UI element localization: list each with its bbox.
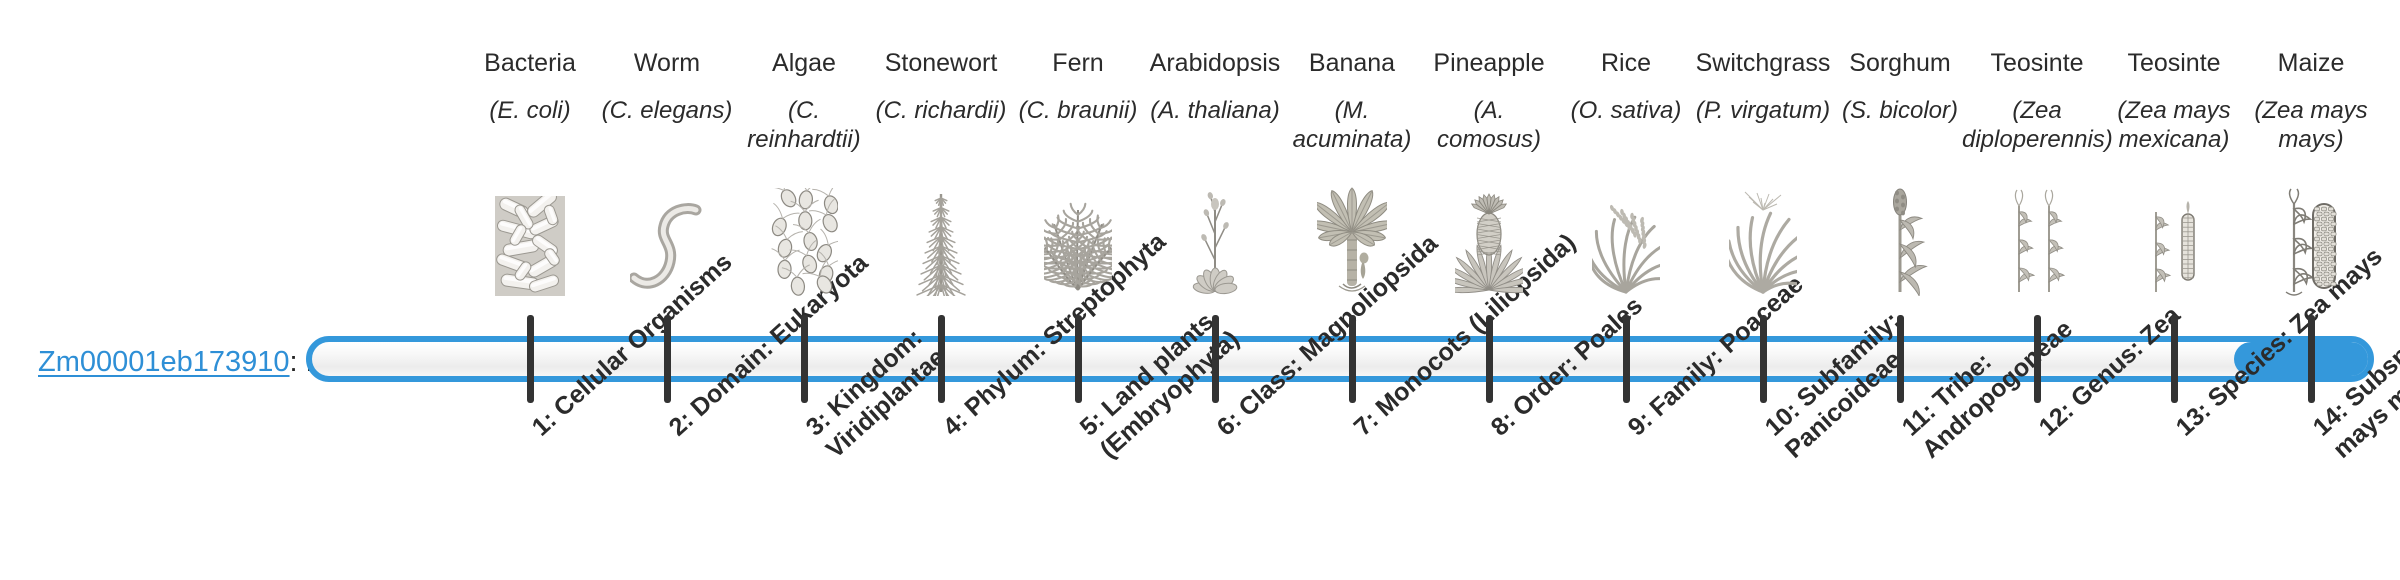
nematode-worm-icon xyxy=(599,168,735,296)
common-name-label: Teosinte xyxy=(1969,48,2105,78)
taxon-column-3: Algae (C. reinhardtii) xyxy=(736,0,872,580)
taxon-column-10: Switchgrass (P. virgatum) xyxy=(1695,0,1831,580)
stonewort-alga-icon xyxy=(873,168,1009,296)
taxon-column-7: Banana (M. acuminata) xyxy=(1284,0,1420,580)
sorghum-plant-icon xyxy=(1832,168,1968,296)
taxon-column-14: Maize (Zea mays mays) xyxy=(2243,0,2379,580)
taxon-column-1: Bacteria (E. coli) xyxy=(462,0,598,580)
scientific-name-label: (C. elegans) xyxy=(599,96,735,125)
phylostratum-tick-8[interactable] xyxy=(1486,315,1493,403)
phylostratum-tick-2[interactable] xyxy=(664,315,671,403)
bacteria-rods-icon xyxy=(462,168,598,296)
scientific-name-label: (E. coli) xyxy=(462,96,598,125)
rice-plant-icon xyxy=(1558,168,1694,296)
teosinte-plant-icon xyxy=(1969,168,2105,296)
phylostratum-tick-7[interactable] xyxy=(1349,315,1356,403)
scientific-name-label: (Zea mays mexicana) xyxy=(2099,96,2249,154)
phylostratum-tick-4[interactable] xyxy=(938,315,945,403)
banana-plant-icon xyxy=(1284,168,1420,296)
scientific-name-label: (C. reinhardtii) xyxy=(736,96,872,154)
taxon-column-6: Arabidopsis (A. thaliana) xyxy=(1147,0,1283,580)
phylostratum-tick-12[interactable] xyxy=(2034,315,2041,403)
scientific-name-label: (A. comosus) xyxy=(1421,96,1557,154)
phylostratum-timeline: Zm00001eb173910: Phylostratum 14 Bacteri… xyxy=(0,0,2400,580)
taxon-column-4: Stonewort (C. richardii) xyxy=(873,0,1009,580)
green-algae-cells-icon xyxy=(736,168,872,296)
common-name-label: Worm xyxy=(599,48,735,78)
gene-label-separator: : xyxy=(290,346,306,378)
common-name-label: Sorghum xyxy=(1832,48,1968,78)
taxon-column-2: Worm (C. elegans) xyxy=(599,0,735,580)
phylostratum-tick-13[interactable] xyxy=(2171,315,2178,403)
taxon-column-13: Teosinte (Zea mays mexicana) xyxy=(2106,0,2242,580)
scientific-name-label: (S. bicolor) xyxy=(1832,96,1968,125)
taxon-column-8: Pineapple (A. comosus) xyxy=(1421,0,1557,580)
pineapple-plant-icon xyxy=(1421,168,1557,296)
common-name-label: Fern xyxy=(1010,48,1146,78)
scientific-name-label: (Zea mays mays) xyxy=(2243,96,2379,154)
scientific-name-label: (C. richardii) xyxy=(873,96,1009,125)
phylostratum-tick-6[interactable] xyxy=(1212,315,1219,403)
scientific-name-label: (A. thaliana) xyxy=(1147,96,1283,125)
taxon-column-5: Fern (C. braunii) xyxy=(1010,0,1146,580)
scientific-name-label: (P. virgatum) xyxy=(1695,96,1831,125)
arabidopsis-plant-icon xyxy=(1147,168,1283,296)
common-name-label: Rice xyxy=(1558,48,1694,78)
common-name-label: Maize xyxy=(2243,48,2379,78)
common-name-label: Pineapple xyxy=(1421,48,1557,78)
fern-frond-icon xyxy=(1010,168,1146,296)
common-name-label: Stonewort xyxy=(873,48,1009,78)
phylostratum-tick-11[interactable] xyxy=(1897,315,1904,403)
scientific-name-label: (C. braunii) xyxy=(1010,96,1146,125)
phylostratum-tick-5[interactable] xyxy=(1075,315,1082,403)
switchgrass-plant-icon xyxy=(1695,168,1831,296)
teosinte-ear-icon xyxy=(2106,168,2242,296)
scientific-name-label: (O. sativa) xyxy=(1558,96,1694,125)
taxon-column-12: Teosinte (Zea diploperennis) xyxy=(1969,0,2105,580)
common-name-label: Switchgrass xyxy=(1695,48,1831,78)
gene-accession-link[interactable]: Zm00001eb173910 xyxy=(38,346,290,378)
phylostratum-tick-1[interactable] xyxy=(527,315,534,403)
scientific-name-label: (Zea diploperennis) xyxy=(1962,96,2112,154)
phylostratum-tick-9[interactable] xyxy=(1623,315,1630,403)
common-name-label: Arabidopsis xyxy=(1147,48,1283,78)
common-name-label: Algae xyxy=(736,48,872,78)
common-name-label: Banana xyxy=(1284,48,1420,78)
common-name-label: Teosinte xyxy=(2106,48,2242,78)
common-name-label: Bacteria xyxy=(462,48,598,78)
phylostratum-tick-14[interactable] xyxy=(2308,315,2315,403)
phylostratum-tick-10[interactable] xyxy=(1760,315,1767,403)
phylostratum-tick-3[interactable] xyxy=(801,315,808,403)
maize-plant-ear-icon xyxy=(2243,168,2379,296)
taxon-column-11: Sorghum (S. bicolor) xyxy=(1832,0,1968,580)
scientific-name-label: (M. acuminata) xyxy=(1284,96,1420,154)
taxon-column-9: Rice (O. sativa) xyxy=(1558,0,1694,580)
